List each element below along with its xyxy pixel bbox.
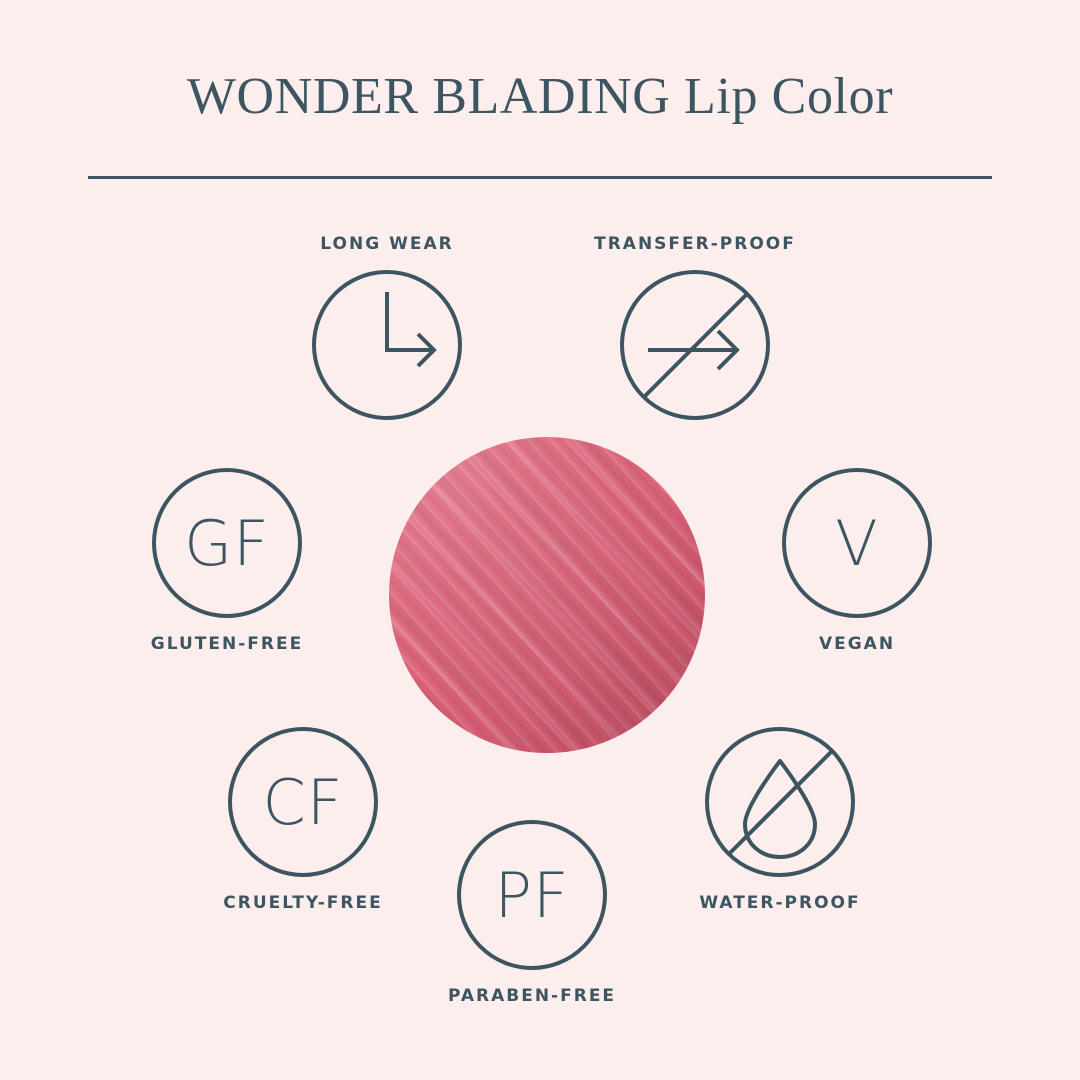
- no-water-droplet-icon: [705, 727, 855, 877]
- badge-label-cruelty-free: CRUELTY-FREE: [188, 892, 418, 914]
- lip-color-swatch: [389, 437, 705, 753]
- no-transfer-arrow-icon: [620, 270, 770, 420]
- cf-letters-text: CF: [263, 766, 344, 839]
- swatch-shading: [389, 437, 705, 753]
- v-letter-text: V: [835, 507, 878, 580]
- badge-transfer-proof[interactable]: TRANSFER-PROOF: [580, 233, 810, 420]
- badge-label-transfer-proof: TRANSFER-PROOF: [580, 233, 810, 255]
- badge-water-proof[interactable]: WATER-PROOF: [665, 727, 895, 914]
- product-benefits-infographic: WONDER BLADING Lip Color LONG WEAR TRANS…: [0, 0, 1080, 1080]
- page-title: WONDER BLADING Lip Color: [0, 66, 1080, 128]
- v-letter-icon: V: [782, 468, 932, 618]
- page-title-secondary: Lip Color: [684, 68, 893, 125]
- badge-vegan[interactable]: V VEGAN: [742, 468, 972, 655]
- pf-letters-text: PF: [494, 859, 569, 932]
- page-title-primary: WONDER BLADING: [187, 68, 671, 125]
- badge-long-wear[interactable]: LONG WEAR: [272, 233, 502, 420]
- badge-gluten-free[interactable]: GF GLUTEN-FREE: [112, 468, 342, 655]
- badge-label-long-wear: LONG WEAR: [272, 233, 502, 255]
- cf-letters-icon: CF: [228, 727, 378, 877]
- pf-letters-icon: PF: [457, 820, 607, 970]
- gf-letters-icon: GF: [152, 468, 302, 618]
- gf-letters-text: GF: [184, 507, 270, 580]
- badge-paraben-free[interactable]: PF PARABEN-FREE: [417, 820, 647, 1007]
- badge-label-gluten-free: GLUTEN-FREE: [112, 633, 342, 655]
- badge-label-paraben-free: PARABEN-FREE: [417, 985, 647, 1007]
- title-divider: [88, 176, 992, 179]
- clock-icon: [312, 270, 462, 420]
- badge-cruelty-free[interactable]: CF CRUELTY-FREE: [188, 727, 418, 914]
- badge-label-water-proof: WATER-PROOF: [665, 892, 895, 914]
- badge-label-vegan: VEGAN: [742, 633, 972, 655]
